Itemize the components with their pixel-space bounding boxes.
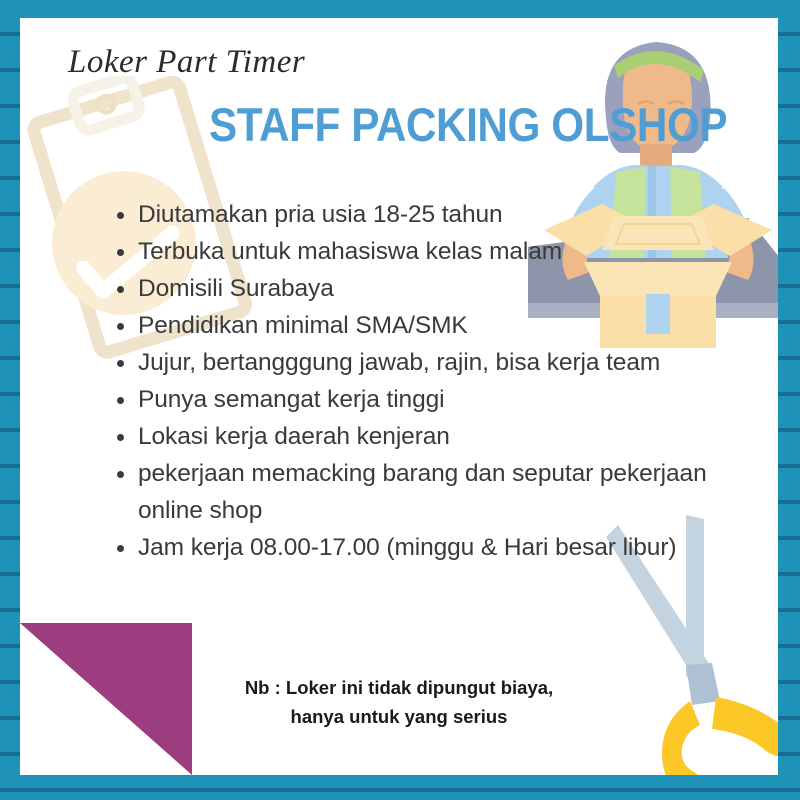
eyebrow-label: Loker Part Timer <box>68 44 305 81</box>
footnote-note: Nb : Loker ini tidak dipungut biaya, han… <box>20 673 778 731</box>
footnote-line-1: Nb : Loker ini tidak dipungut biaya, <box>20 673 778 702</box>
requirements-list: Diutamakan pria usia 18-25 tahun Terbuka… <box>100 196 740 566</box>
poster: Loker Part Timer STAFF PACKING OLSHOP Di… <box>0 0 800 800</box>
list-item: Terbuka untuk mahasiswa kelas malam <box>100 233 740 270</box>
list-item: Lokasi kerja daerah kenjeran <box>100 418 740 455</box>
footnote-line-2: hanya untuk yang serius <box>20 702 778 731</box>
list-item: Punya semangat kerja tinggi <box>100 381 740 418</box>
list-item: Diutamakan pria usia 18-25 tahun <box>100 196 740 233</box>
white-poster-card: Loker Part Timer STAFF PACKING OLSHOP Di… <box>20 18 778 775</box>
list-item: Jujur, bertangggung jawab, rajin, bisa k… <box>100 344 740 381</box>
page-title: STAFF PACKING OLSHOP <box>209 101 727 148</box>
list-item: Domisili Surabaya <box>100 270 740 307</box>
list-item: Pendidikan minimal SMA/SMK <box>100 307 740 344</box>
list-item: Jam kerja 08.00-17.00 (minggu & Hari bes… <box>100 529 740 566</box>
list-item: pekerjaan memacking barang dan seputar p… <box>100 455 740 529</box>
poster-content: Loker Part Timer STAFF PACKING OLSHOP Di… <box>20 18 778 775</box>
